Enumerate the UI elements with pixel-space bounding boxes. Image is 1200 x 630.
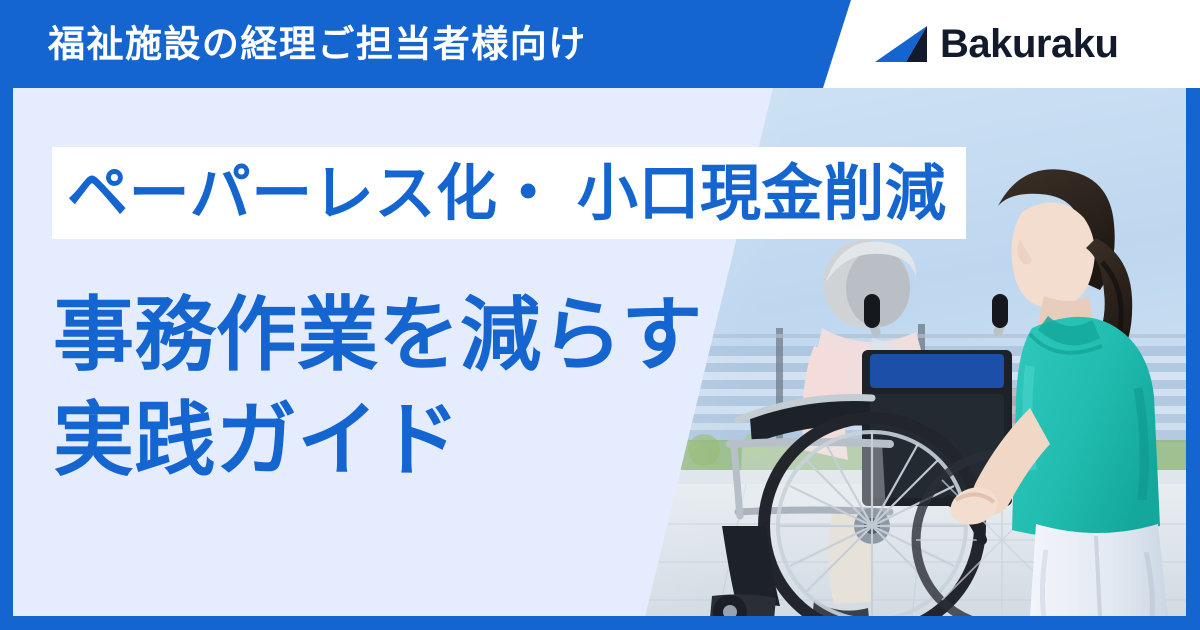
logo-plate: Bakuraku [815, 0, 1200, 88]
subtitle-text: ペーパーレス化・ 小口現金削減 [52, 163, 947, 224]
logo-wordmark: Bakuraku [940, 24, 1118, 64]
logo: Bakuraku [875, 24, 1118, 64]
banner-root: 福祉施設の経理ご担当者様向け Bakuraku [0, 0, 1200, 630]
frame-edge-left [0, 88, 13, 630]
headline-line-1: 事務作業を減らす [53, 284, 703, 389]
subtitle-band: ペーパーレス化・ 小口現金削減 [52, 147, 966, 239]
headline-line-2: 実践ガイド [53, 389, 703, 494]
header-bar: 福祉施設の経理ご担当者様向け Bakuraku [0, 0, 1200, 88]
bakuraku-triangle-icon [875, 26, 929, 62]
frame-edge-bottom [0, 616, 1200, 630]
frame-edge-right [1186, 88, 1200, 630]
header-eyebrow-text: 福祉施設の経理ご担当者様向け [48, 26, 587, 63]
headline: 事務作業を減らす 実践ガイド [53, 284, 703, 495]
content-canvas: ペーパーレス化・ 小口現金削減 事務作業を減らす 実践ガイド [13, 88, 1186, 617]
